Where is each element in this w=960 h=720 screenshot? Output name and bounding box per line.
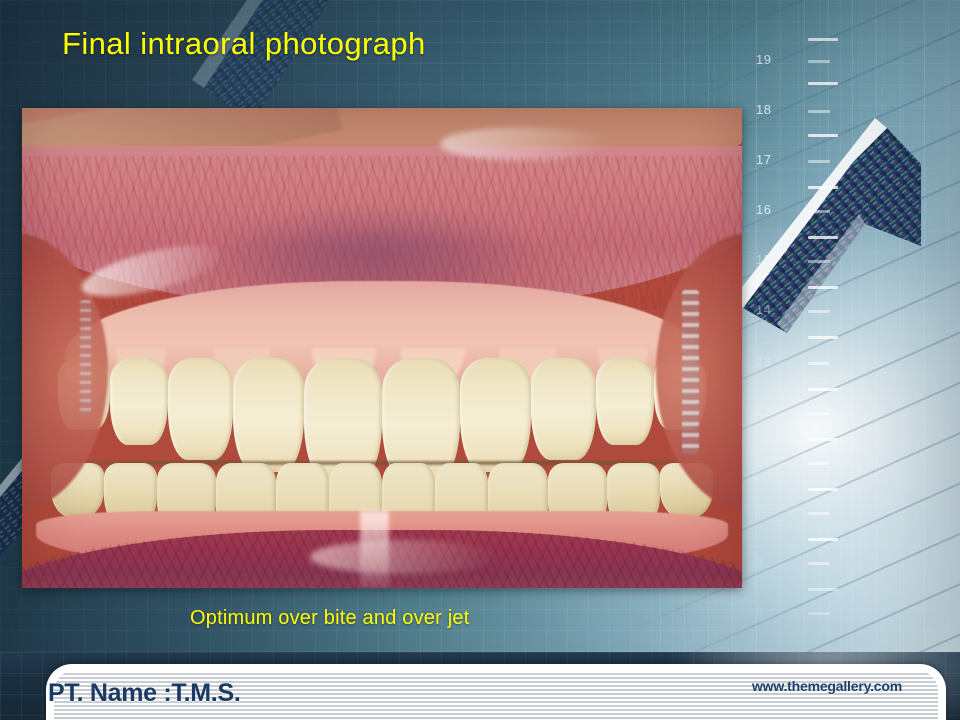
photo-inner-shadow [22, 108, 742, 588]
photo-caption: Optimum over bite and over jet [190, 607, 469, 630]
intraoral-photograph [22, 108, 742, 588]
slide-canvas: 19 18 17 16 15 14 13 12 11 10 9 8 [0, 0, 960, 720]
website-link[interactable]: www.themegallery.com [752, 678, 902, 694]
patient-name-label: PT. Name :T.M.S. [48, 679, 240, 708]
slide-footer: PT. Name :T.M.S. www.themegallery.com [0, 652, 960, 720]
page-title: Final intraoral photograph [62, 26, 426, 62]
